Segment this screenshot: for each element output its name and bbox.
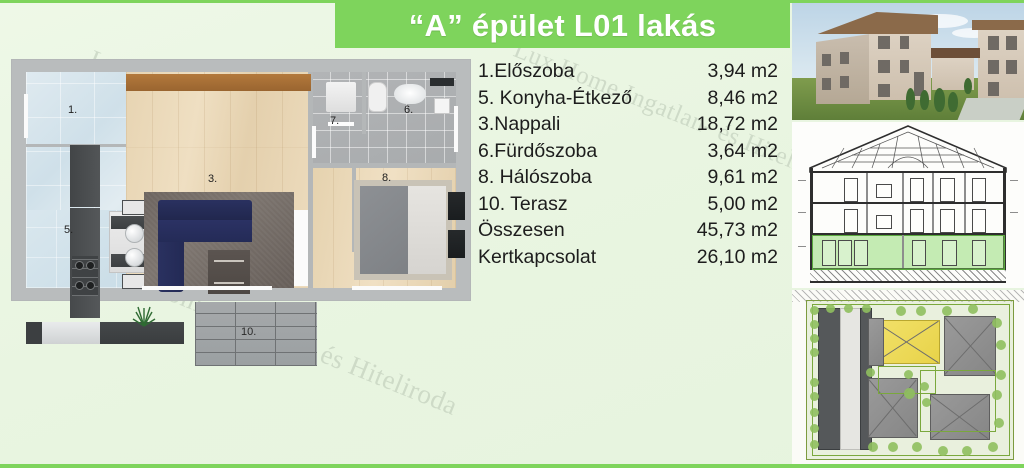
room-name: 6.Fürdőszoba — [478, 140, 650, 167]
nightstand — [448, 192, 465, 220]
window-bathroom — [454, 106, 458, 152]
plan-label-kitchen: 5. — [64, 224, 73, 236]
sofa-backrest — [158, 200, 252, 222]
room-area: 26,10 m2 — [650, 246, 778, 273]
potted-plant-icon — [130, 300, 158, 328]
nightstand — [448, 230, 465, 258]
exterior-render-image — [792, 2, 1024, 120]
washbasin-icon — [394, 84, 426, 104]
site-plan-drawing — [792, 290, 1024, 466]
window-hall — [24, 94, 28, 138]
room-area: 18,72 m2 — [650, 113, 778, 140]
schedule-row: 1.Előszoba3,94 m2 — [478, 60, 778, 87]
plan-label-living: 3. — [208, 173, 217, 185]
room-bedroom-hallway-floor — [311, 168, 355, 288]
ceiling-beam — [126, 74, 311, 91]
schedule-row: Összesen45,73 m2 — [478, 219, 778, 246]
schedule-row: 5. Konyha-Étkező8,46 m2 — [478, 87, 778, 114]
washing-machine-icon — [434, 98, 450, 114]
room-name: 3.Nappali — [478, 113, 650, 140]
bottom-accent-line — [0, 464, 1024, 468]
terrace-area: 10. — [195, 302, 317, 366]
room-name: 10. Terasz — [478, 193, 650, 220]
schedule-row: 3.Nappali18,72 m2 — [478, 113, 778, 140]
mirror — [430, 78, 454, 86]
shower-tray — [326, 82, 356, 112]
kitchen-counter-upper — [70, 145, 100, 207]
door-living — [294, 210, 308, 286]
door-swing-wc — [312, 126, 316, 158]
room-schedule-table: 1.Előszoba3,94 m25. Konyha-Étkező8,46 m2… — [478, 60, 778, 272]
window-living-terrace-door — [142, 286, 272, 290]
schedule-row: Kertkapcsolat26,10 m2 — [478, 246, 778, 273]
room-area: 45,73 m2 — [650, 219, 778, 246]
page-title: “A” épület L01 lakás — [409, 8, 717, 44]
tall-cabinet — [26, 322, 42, 344]
plan-label-bedroom: 8. — [382, 172, 391, 184]
toilet-icon — [368, 82, 387, 112]
room-schedule: 1.Előszoba3,94 m25. Konyha-Étkező8,46 m2… — [478, 60, 778, 272]
brochure-page: “A” épület L01 lakás Lux Home Ingatlan- … — [0, 0, 1024, 468]
room-area: 3,94 m2 — [650, 60, 778, 87]
room-area: 5,00 m2 — [650, 193, 778, 220]
room-area: 8,46 m2 — [650, 87, 778, 114]
window-bedroom — [352, 286, 442, 290]
schedule-row: 6.Fürdőszoba3,64 m2 — [478, 140, 778, 167]
room-name: 8. Hálószoba — [478, 166, 650, 193]
plan-label-hall: 1. — [68, 104, 77, 116]
plan-label-bath: 6. — [404, 104, 413, 116]
bed-blanket — [360, 186, 408, 274]
top-accent-line — [0, 0, 1024, 3]
plan-label-wc: 7. — [330, 115, 339, 127]
cooktop-icon — [72, 256, 98, 296]
room-name: 5. Konyha-Étkező — [478, 87, 650, 114]
sofa-chaise — [158, 242, 184, 292]
plan-label-terrace: 10. — [241, 326, 256, 338]
wall-partition-horizontal — [308, 163, 456, 168]
schedule-row: 8. Hálószoba9,61 m2 — [478, 166, 778, 193]
room-name: Összesen — [478, 219, 650, 246]
floor-plan: 1. 3. 5. 6. 7. 8. — [12, 60, 470, 300]
room-name: Kertkapcsolat — [478, 246, 650, 273]
cross-section-drawing — [792, 122, 1024, 288]
schedule-row: 10. Terasz5,00 m2 — [478, 193, 778, 220]
page-title-bar: “A” épület L01 lakás — [335, 3, 790, 48]
room-area: 3,64 m2 — [650, 140, 778, 167]
room-name: 1.Előszoba — [478, 60, 650, 87]
wall-wc-bath-divider — [362, 72, 366, 134]
sofa-seat — [158, 220, 252, 242]
wall-bedroom-divider — [352, 168, 356, 252]
room-area: 9,61 m2 — [650, 166, 778, 193]
wall-partition-vertical — [308, 72, 313, 288]
